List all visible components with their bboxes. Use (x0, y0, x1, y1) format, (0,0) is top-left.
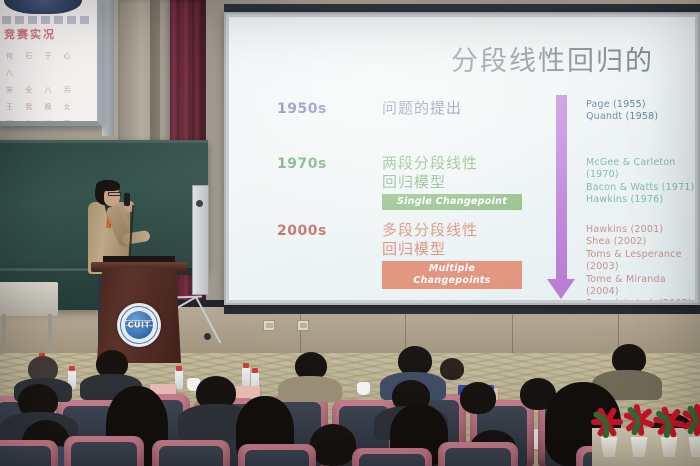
cuit-logo-text: CUIT (128, 321, 151, 330)
references-1950s: Page (1955) Quandt (1958) (586, 99, 658, 124)
microphone (124, 193, 130, 206)
theater-seat-front (0, 440, 58, 466)
topic-text-1950s: 问题的提出 (382, 99, 462, 118)
theater-seat-front (438, 442, 518, 466)
topic-text-1970s: 两段分段线性 回归模型 (382, 154, 478, 192)
secondary-display: 竞赛实况 何 石 于 心 八 宋 全 八 另 王 我 晚 女 环 伦 详 写 (0, 0, 102, 126)
decade-label-2000s: 2000s (277, 223, 327, 239)
speaker-hair (96, 180, 120, 191)
timeline-arrow-head (547, 279, 575, 299)
slide-title: 分段线性回归的 (451, 39, 654, 78)
theater-seat-front (152, 440, 230, 466)
monitor-photo-thumbnail (4, 0, 82, 14)
table-leg (48, 314, 52, 346)
references-1970s: McGee & Carleton (1970) Bacon & Watts (1… (586, 157, 695, 207)
lecture-hall-photo: 分段线性回归的 1950s 问题的提出 Page (1955) Quandt (… (0, 0, 700, 466)
theater-seat-front (352, 448, 432, 466)
wall-outlet (263, 320, 275, 331)
speaker-glasses (108, 192, 121, 196)
tripod-adjust-knob (196, 200, 203, 207)
decade-label-1970s: 1970s (277, 156, 327, 172)
cuit-logo: CUIT (117, 303, 161, 347)
monitor-name-list: 何 石 于 心 八 宋 全 八 另 王 我 晚 女 环 伦 详 写 (6, 48, 92, 126)
audience-head (310, 424, 356, 466)
poinsettia-bloom (590, 404, 624, 434)
presentation-slide: 分段线性回归的 1950s 问题的提出 Page (1955) Quandt (… (229, 17, 695, 300)
decade-label-1950s: 1950s (277, 101, 327, 117)
monitor-bezel (102, 0, 114, 136)
badge-multiple-changepoints: Multiple Changepoints (382, 261, 522, 289)
monitor-title: 竞赛实况 (4, 26, 56, 42)
badge-single-changepoint: Single Changepoint (382, 194, 522, 210)
theater-seat-front (64, 436, 144, 466)
poinsettia-bloom (622, 402, 656, 432)
audience-shoulders (278, 376, 342, 402)
references-2000s: Hawkins (2001) Shea (2002) Toms & Lesper… (586, 224, 695, 300)
tripod-foot (204, 333, 211, 340)
audience-head (460, 382, 496, 414)
equipment-table (0, 282, 58, 316)
audience-head (440, 358, 464, 380)
monitor-subtext-lines (2, 16, 92, 24)
topic-text-2000s: 多段分段线性 回归模型 (382, 221, 478, 259)
wall-outlet (297, 320, 309, 331)
timeline-arrow-shaft (556, 95, 567, 281)
poinsettia-bloom (680, 402, 700, 432)
projection-screen: 分段线性回归的 1950s 问题的提出 Page (1955) Quandt (… (224, 12, 700, 305)
theater-seat-front (238, 444, 316, 466)
table-leg (2, 314, 6, 346)
